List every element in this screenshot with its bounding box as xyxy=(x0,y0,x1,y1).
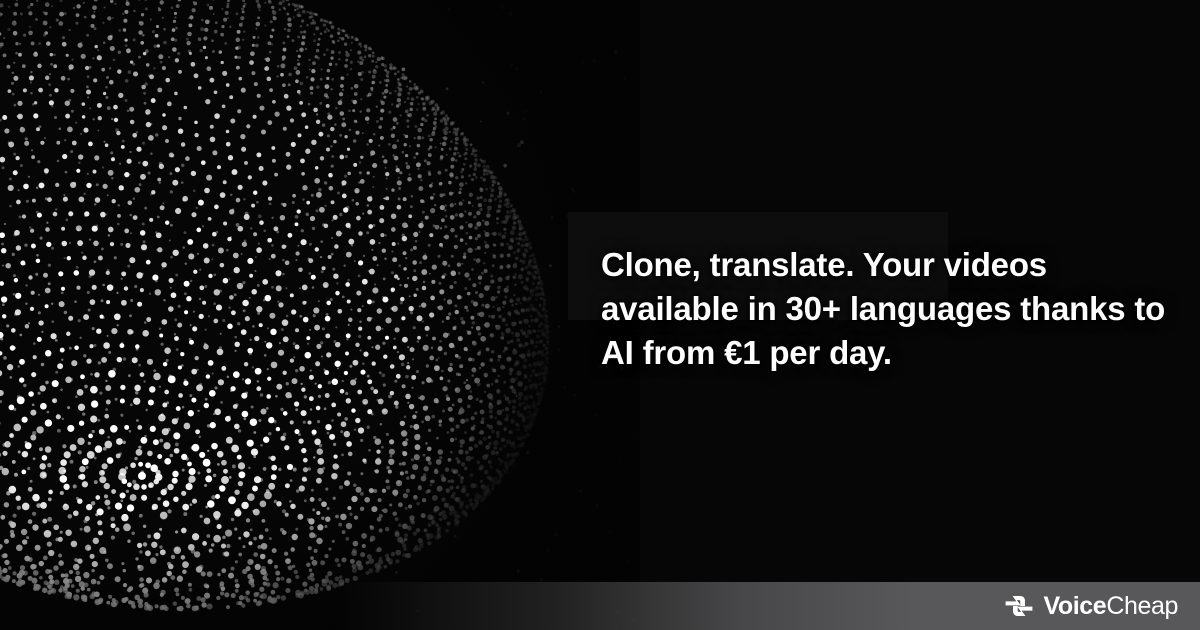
logo-wordmark: VoiceCheap xyxy=(1043,594,1178,619)
voicecheap-logo[interactable]: VoiceCheap xyxy=(1004,593,1178,619)
particle-sphere-svg xyxy=(0,0,640,630)
logo-word-voice: Voice xyxy=(1043,592,1106,620)
soundwave-icon-svg xyxy=(1004,593,1034,619)
social-card: Clone, translate. Your videos available … xyxy=(0,0,1200,630)
brand-bar: VoiceCheap xyxy=(0,582,1200,630)
soundwave-icon xyxy=(1004,593,1034,619)
headline-text: Clone, translate. Your videos available … xyxy=(601,243,1176,375)
logo-word-cheap: Cheap xyxy=(1106,592,1178,620)
particle-sphere-artwork xyxy=(0,0,640,630)
